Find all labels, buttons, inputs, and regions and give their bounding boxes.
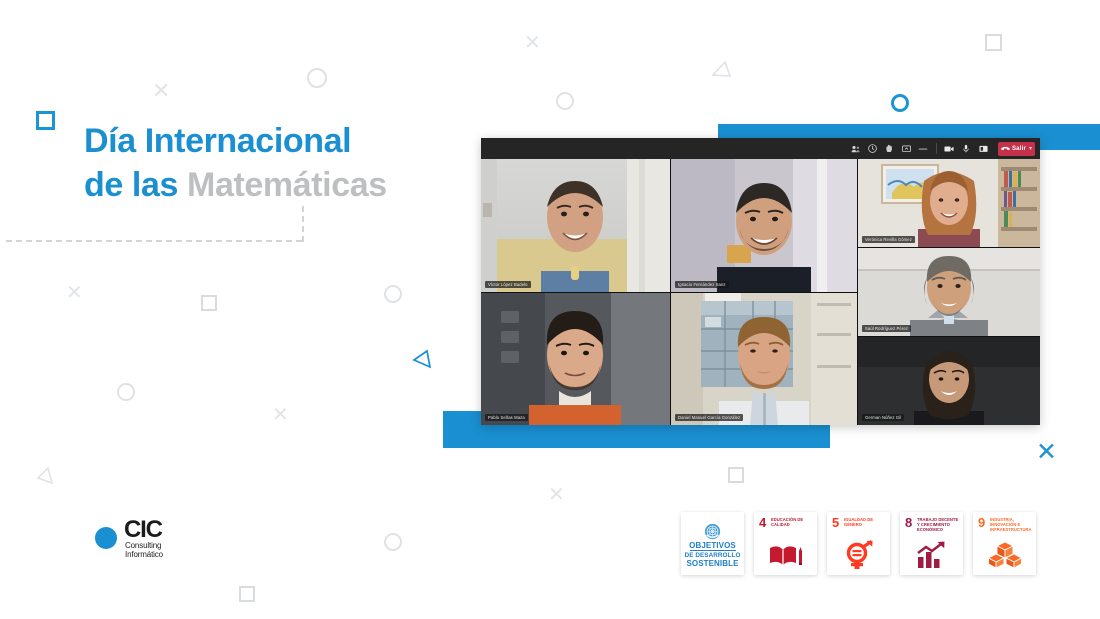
sdg-goal-number: 5 <box>832 517 839 529</box>
participant-name: Daniel Manuel García González <box>675 414 743 421</box>
decor-square-icon <box>239 586 255 602</box>
decor-blue-circle-icon <box>891 94 909 112</box>
decor-blue-triangle-icon <box>412 349 434 369</box>
cic-logo: CIC Consulting Informático <box>84 517 184 563</box>
decor-x-icon: ✕ <box>66 283 83 303</box>
sdg-goal-label: EDUCACIÓN DE CALIDAD <box>771 517 814 527</box>
title-line-2: de las Matemáticas <box>84 163 387 207</box>
decor-blue-square-icon <box>36 111 55 130</box>
video-call-window[interactable]: Salir ▾ <box>481 138 1040 425</box>
decor-circle-icon <box>384 285 402 303</box>
participant-name: Ignacio Fernández Sanz <box>675 281 729 288</box>
decor-circle-icon <box>117 383 135 401</box>
decor-x-icon: ✕ <box>548 485 565 505</box>
camera-icon[interactable] <box>941 141 958 156</box>
raise-hand-icon[interactable] <box>881 141 898 156</box>
united-nations-emblem-icon <box>704 523 721 540</box>
sdg-goal-label: INDUSTRIA, INNOVACIÓN E INFRAESTRUCTURA <box>990 517 1033 533</box>
participant-name: Víctor López Badelo <box>485 281 531 288</box>
decor-x-icon: ✕ <box>272 405 289 425</box>
decor-circle-icon <box>307 68 327 88</box>
decor-circle-icon <box>556 92 574 110</box>
table-row[interactable]: Daniel Manuel García González <box>671 293 857 425</box>
open-book-and-pencil-icon <box>754 539 817 571</box>
slide-canvas: ✕ ✕ ✕ ✕ ✕ ✕ Día Internacional de las Mat… <box>0 0 1100 619</box>
chat-icon[interactable] <box>864 141 881 156</box>
participant-name: Pablo Señas Maza <box>485 414 528 421</box>
title-line-1: Día Internacional <box>84 119 387 163</box>
sdg-goal-card-8[interactable]: 8 TRABAJO DECENTE Y CRECIMIENTO ECONÓMIC… <box>900 512 963 575</box>
participant-name: Verónica Revilla Gómez <box>862 236 915 243</box>
leave-call-button[interactable]: Salir ▾ <box>998 142 1035 156</box>
title-line-2-blue: de las <box>84 166 187 204</box>
decor-square-icon <box>728 467 744 483</box>
title-line-2-gray: Matemáticas <box>187 166 387 204</box>
table-row[interactable]: Víctor López Badelo <box>481 159 670 292</box>
page-title: Día Internacional de las Matemáticas <box>84 119 387 207</box>
sdg-badge-row: OBJETIVOS DE DESARROLLO SOSTENIBLE 4 EDU… <box>681 512 1036 575</box>
decor-square-icon <box>985 34 1002 51</box>
decor-x-icon: ✕ <box>152 80 170 102</box>
decor-dashed-line <box>6 240 302 242</box>
sdg-goal-card-9[interactable]: 9 INDUSTRIA, INNOVACIÓN E INFRAESTRUCTUR… <box>973 512 1036 575</box>
sdg-goal-number: 8 <box>905 517 912 529</box>
participant-name: German Núñez Gil <box>862 414 904 421</box>
toolbar-divider <box>936 143 937 154</box>
more-options-icon[interactable] <box>915 141 932 156</box>
table-row[interactable]: Verónica Revilla Gómez <box>858 159 1040 247</box>
microphone-icon[interactable] <box>958 141 975 156</box>
leave-call-label: Salir <box>1012 146 1026 152</box>
table-row[interactable]: Saúl Rodríguez Pérez <box>858 248 1040 336</box>
share-screen-icon[interactable] <box>898 141 915 156</box>
decor-triangle-icon <box>36 466 56 484</box>
table-row[interactable]: German Núñez Gil <box>858 337 1040 425</box>
sdg-goal-number: 9 <box>978 517 985 529</box>
sdg-goal-card-4[interactable]: 4 EDUCACIÓN DE CALIDAD <box>754 512 817 575</box>
decor-dashed-line <box>302 206 304 242</box>
decor-x-icon: ✕ <box>524 33 541 53</box>
growth-bar-chart-arrow-icon <box>900 539 963 571</box>
participant-name: Saúl Rodríguez Pérez <box>862 325 911 332</box>
decor-square-icon <box>201 295 217 311</box>
sdg-underline <box>690 550 736 551</box>
decor-blue-x-icon: ✕ <box>1036 440 1057 465</box>
sdg-goal-number: 4 <box>759 517 766 529</box>
participant-grid: Víctor López Badelo <box>481 159 1040 425</box>
table-row[interactable]: Ignacio Fernández Sanz <box>671 159 857 292</box>
chevron-down-icon[interactable]: ▾ <box>1029 146 1032 152</box>
sdg-header-line-1: OBJETIVOS <box>689 542 736 550</box>
cic-concentric-arcs-icon <box>84 519 122 557</box>
sdg-header-line-3: SOSTENIBLE <box>686 560 738 568</box>
sdg-goal-card-5[interactable]: 5 IGUALDAD DE GÉNERO <box>827 512 890 575</box>
sdg-goal-label: IGUALDAD DE GÉNERO <box>844 517 887 527</box>
sdg-logo-card: OBJETIVOS DE DESARROLLO SOSTENIBLE <box>681 512 744 575</box>
stacked-cubes-icon <box>973 539 1036 571</box>
call-toolbar[interactable]: Salir ▾ <box>481 138 1040 159</box>
present-icon[interactable] <box>975 141 992 156</box>
decor-circle-icon <box>384 533 402 551</box>
cic-tagline-line-2: Informático <box>125 550 163 559</box>
hangup-icon <box>1001 146 1010 152</box>
decor-triangle-icon <box>712 60 732 78</box>
participants-icon[interactable] <box>847 141 864 156</box>
sdg-goal-label: TRABAJO DECENTE Y CRECIMIENTO ECONÓMICO <box>917 517 960 533</box>
table-row[interactable]: Pablo Señas Maza <box>481 293 670 425</box>
cic-tagline-line-1: Consulting <box>125 541 163 550</box>
cic-tagline: Consulting Informático <box>125 541 163 559</box>
cic-wordmark: CIC <box>124 518 162 542</box>
gender-equality-symbol-icon <box>827 539 890 571</box>
